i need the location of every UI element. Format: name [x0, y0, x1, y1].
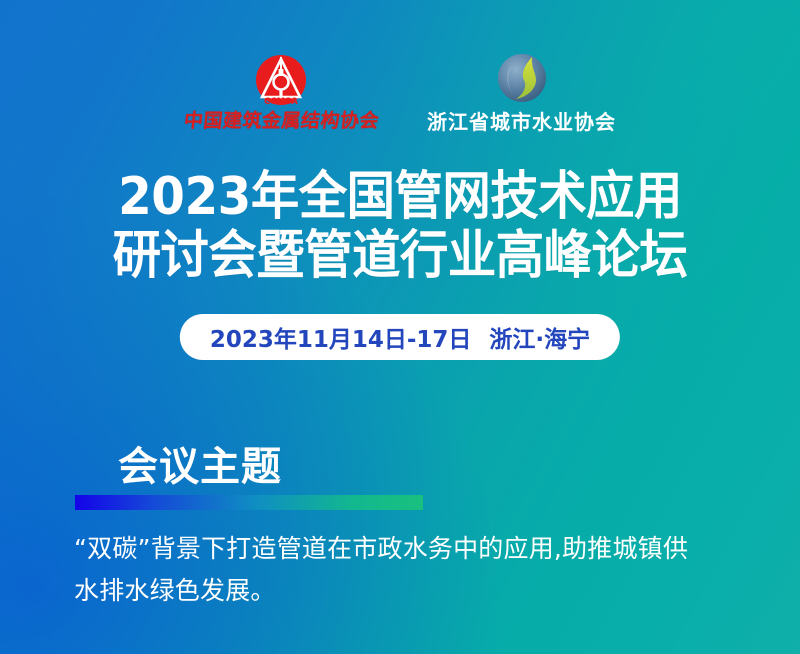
section-accent-bar — [75, 495, 423, 510]
organizer-name-zjwater: 浙江省城市水业协会 — [427, 112, 616, 132]
organizer-logo-zjwater: 浙江省城市水业协会 — [427, 52, 616, 132]
ccmsa-triangle-circle-icon: CCMSA — [250, 52, 312, 110]
organizer-logo-ccmsa: CCMSA 中国建筑金属结构协会 — [184, 52, 379, 131]
organizer-logo-row: CCMSA 中国建筑金属结构协会 — [0, 52, 800, 132]
section-heading-label: 会议主题 — [118, 442, 282, 492]
title-line-1: 2023年全国管网技术应用 — [28, 168, 772, 227]
svg-text:CCMSA: CCMSA — [265, 97, 299, 107]
theme-body-line-1: “双碳”背景下打造管道在市政水务中的应用,助推城镇供 — [74, 528, 734, 570]
theme-body-text: “双碳”背景下打造管道在市政水务中的应用,助推城镇供 水排水绿色发展。 — [74, 528, 734, 612]
theme-section-header: 会议主题 — [72, 440, 492, 510]
event-location: 浙江·海宁 — [489, 320, 590, 354]
poster-main-title: 2023年全国管网技术应用 研讨会暨管道行业高峰论坛 — [28, 168, 772, 286]
theme-body-line-2: 水排水绿色发展。 — [74, 570, 734, 612]
title-line-2: 研讨会暨管道行业高峰论坛 — [28, 227, 772, 286]
event-date: 2023年11月14日-17日 — [210, 320, 472, 354]
zjwater-sphere-droplet-icon — [491, 52, 553, 110]
date-location-badge: 2023年11月14日-17日 浙江·海宁 — [180, 314, 620, 360]
conference-poster: CCMSA 中国建筑金属结构协会 — [0, 0, 800, 654]
organizer-name-ccmsa: 中国建筑金属结构协会 — [183, 112, 380, 131]
